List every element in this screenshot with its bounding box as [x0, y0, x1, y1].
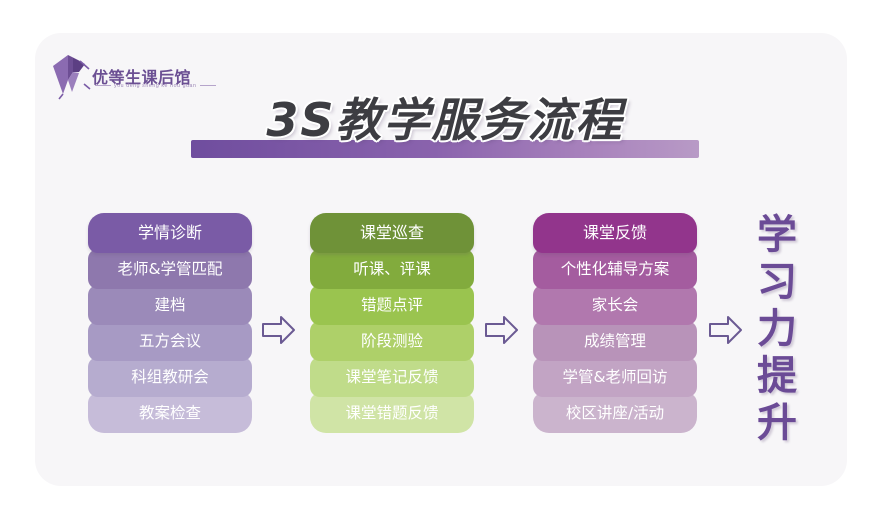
flow-step-item[interactable]: 课堂错题反馈 — [310, 393, 474, 433]
outcome-char: 升 — [748, 400, 806, 447]
outcome-char: 提 — [748, 353, 806, 400]
flow-column-header[interactable]: 课堂巡查 — [310, 213, 474, 253]
flow-column-3: 课堂反馈个性化辅导方案家长会成绩管理学管&老师回访校区讲座/活动 — [533, 213, 697, 433]
flow-step-item[interactable]: 阶段测验 — [310, 321, 474, 361]
outcome-char: 习 — [748, 259, 806, 306]
flow-step-item[interactable]: 科组教研会 — [88, 357, 252, 397]
flow-column-header[interactable]: 学情诊断 — [88, 213, 252, 253]
arrow-right-icon — [259, 310, 299, 350]
flow-step-item[interactable]: 成绩管理 — [533, 321, 697, 361]
flow-column-1: 学情诊断老师&学管匹配建档五方会议科组教研会教案检查 — [88, 213, 252, 433]
flow-column-2: 课堂巡查听课、评课错题点评阶段测验课堂笔记反馈课堂错题反馈 — [310, 213, 474, 433]
flow-step-item[interactable]: 建档 — [88, 285, 252, 325]
flow-step-item[interactable]: 五方会议 — [88, 321, 252, 361]
arrow-right-icon — [482, 310, 522, 350]
arrow-right-icon — [706, 310, 746, 350]
flow-column-header[interactable]: 课堂反馈 — [533, 213, 697, 253]
outcome-char: 学 — [748, 212, 806, 259]
outcome-label: 学习力提升 — [748, 212, 806, 447]
diagram-canvas: 优等生课后馆 you deng sheng ke hou guan 3S教学服务… — [0, 0, 880, 516]
flow-step-item[interactable]: 校区讲座/活动 — [533, 393, 697, 433]
outcome-char: 力 — [748, 306, 806, 353]
flow-step-item[interactable]: 错题点评 — [310, 285, 474, 325]
flow-step-item[interactable]: 听课、评课 — [310, 249, 474, 289]
flow-step-item[interactable]: 老师&学管匹配 — [88, 249, 252, 289]
flow-step-item[interactable]: 家长会 — [533, 285, 697, 325]
flow-step-item[interactable]: 课堂笔记反馈 — [310, 357, 474, 397]
flow-step-item[interactable]: 教案检查 — [88, 393, 252, 433]
flow-step-item[interactable]: 学管&老师回访 — [533, 357, 697, 397]
flow-step-item[interactable]: 个性化辅导方案 — [533, 249, 697, 289]
